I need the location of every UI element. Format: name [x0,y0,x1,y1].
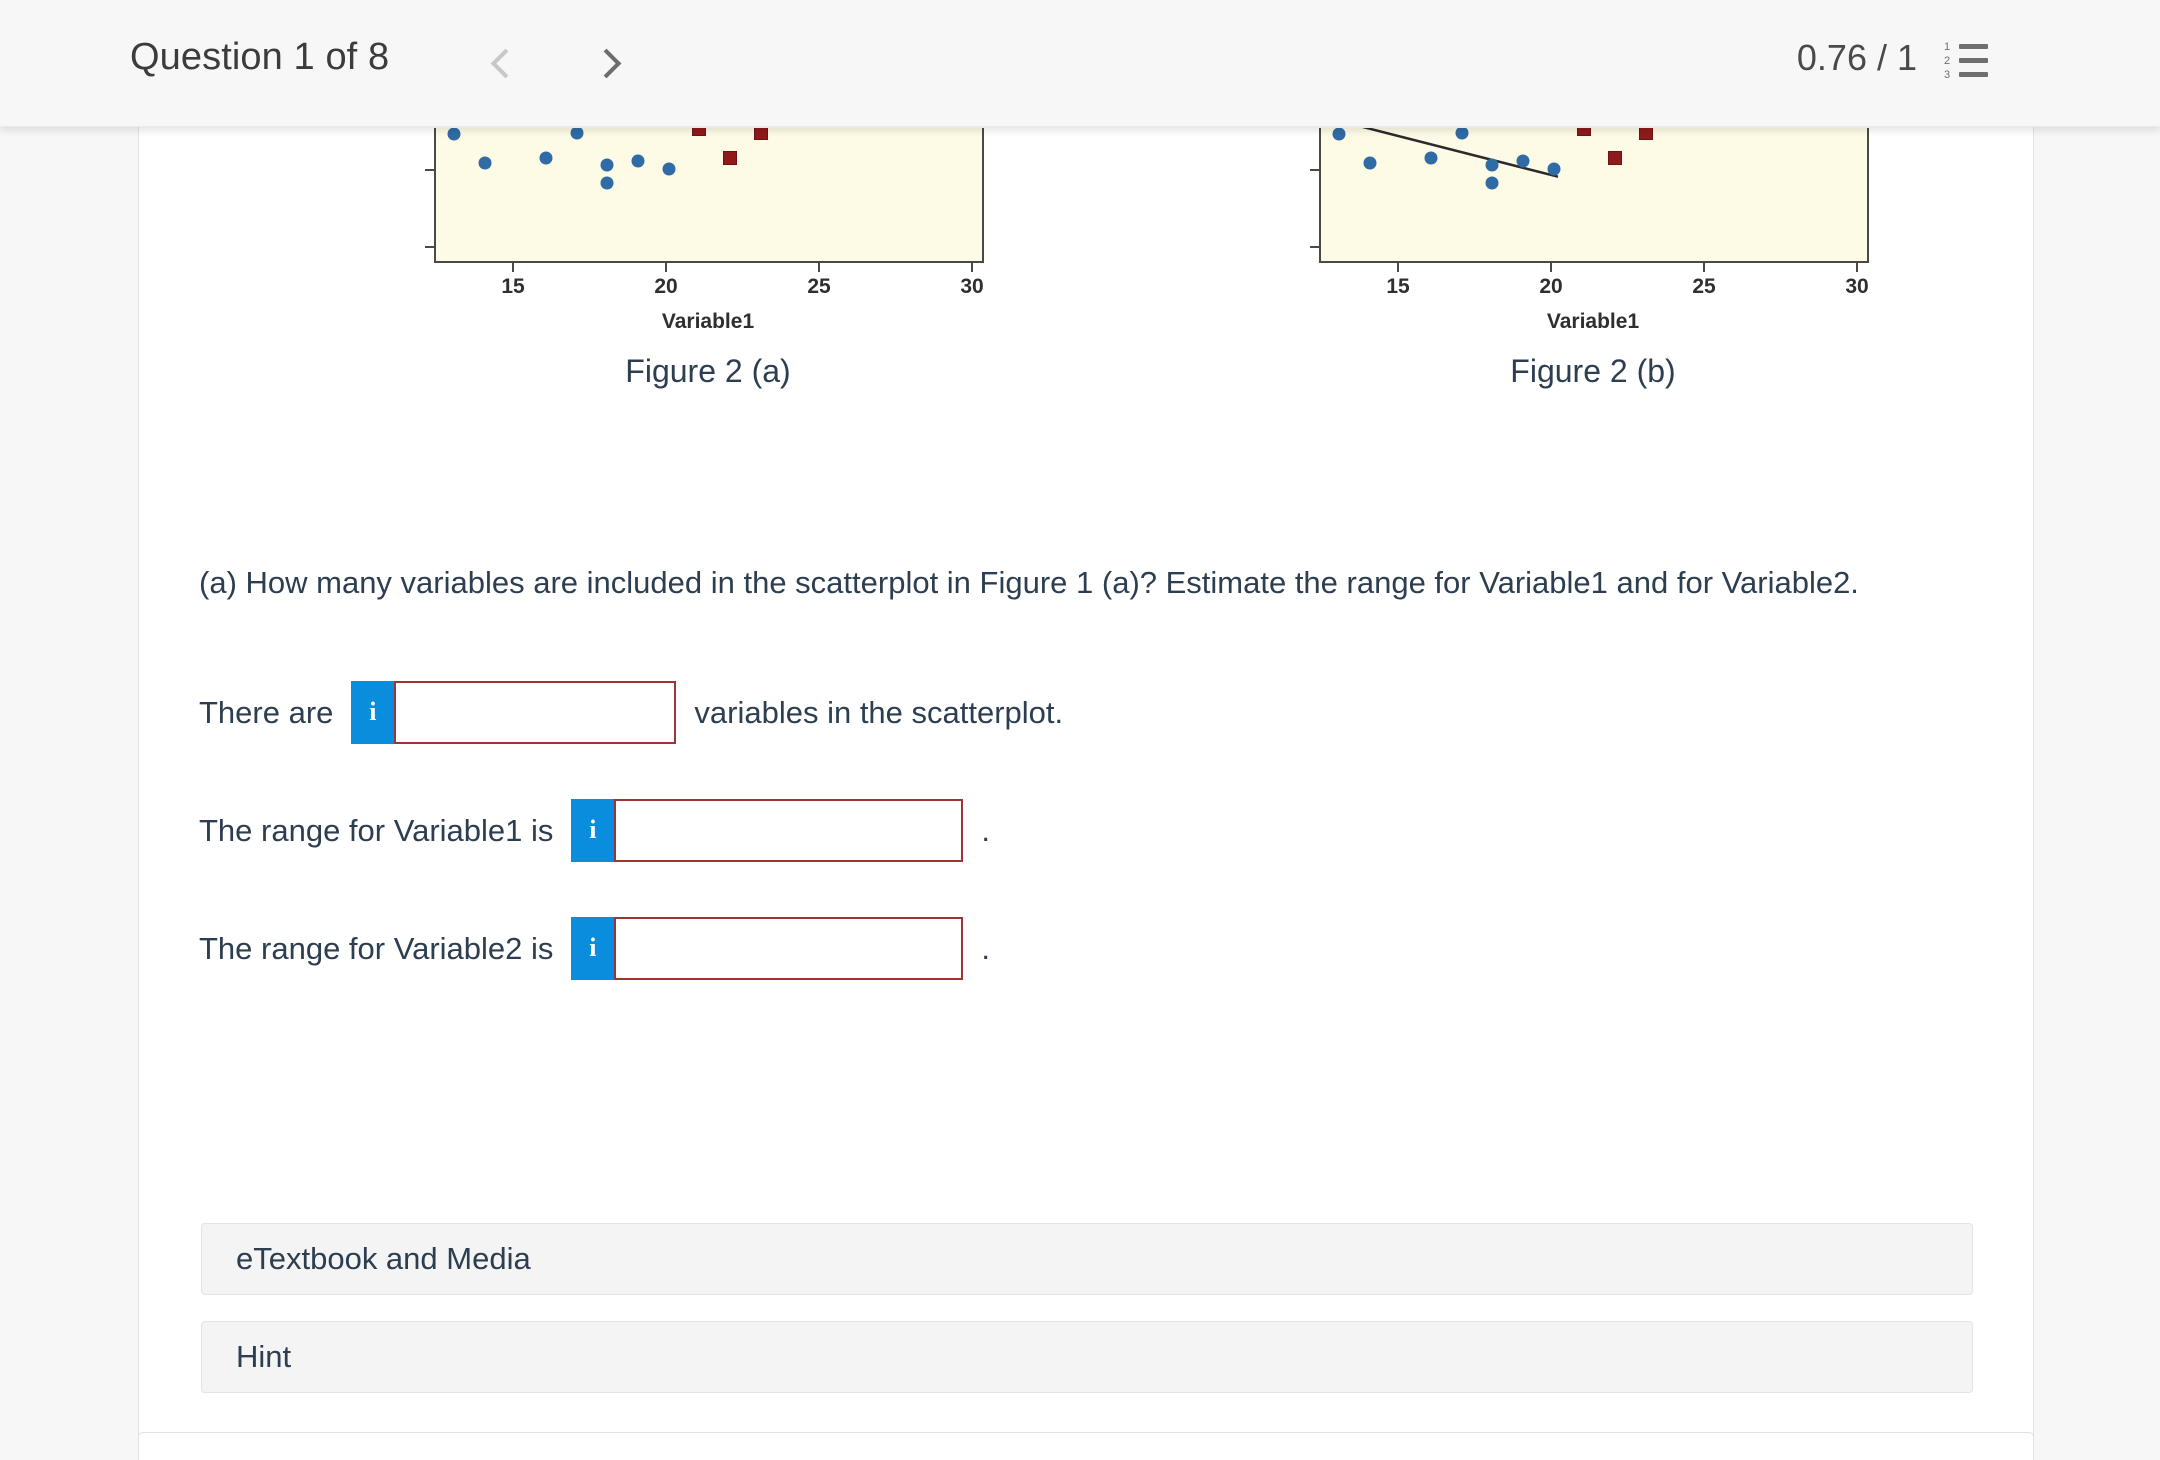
data-point-red [1639,128,1653,140]
previous-question-button[interactable] [482,38,528,88]
x-tick-mark-30 [1856,263,1858,272]
chevron-left-icon [490,48,520,78]
x-tick-mark-15 [1397,263,1399,272]
data-point-red [723,151,737,165]
answer-prefix-label: The range for Variable2 is [199,933,553,964]
figure-2b-plot: 80 60 [1224,128,1844,318]
question-body-scroll[interactable]: 80 60 [0,127,2160,1460]
numbered-list-icon[interactable]: 1 2 3 [1944,42,1988,82]
y-tick-mark-80 [425,169,434,171]
answer-prefix-label: The range for Variable1 is [199,815,553,846]
data-point-blue [1364,157,1377,170]
answer-suffix-label: variables in the scatterplot. [694,697,1063,728]
answer-row-variable-count: There are i variables in the scatterplot… [199,678,1063,746]
x-tick-label-20: 20 [1539,275,1562,299]
next-question-card [138,1432,2034,1460]
answer-suffix-label: . [981,815,990,846]
y-tick-mark-60 [1310,246,1319,248]
hint-button[interactable]: Hint [201,1321,1973,1393]
data-point-red [754,128,768,140]
data-point-blue [632,155,645,168]
list-number-1: 1 [1944,43,1950,52]
x-axis-title: Variable1 [1547,310,1639,334]
page-title: Question 1 of 8 [130,36,389,79]
range-variable2-input[interactable] [614,917,963,980]
data-point-blue [1486,177,1499,190]
figure-2a-plot-area [434,128,984,263]
figures-region: 80 60 [139,128,2035,438]
answer-prefix-label: There are [199,697,333,728]
x-tick-label-30: 30 [1845,275,1868,299]
x-tick-mark-25 [1703,263,1705,272]
x-tick-label-15: 15 [501,275,524,299]
regression-line-blue [1321,128,1867,261]
data-point-blue [663,163,676,176]
x-tick-mark-20 [1550,263,1552,272]
range-variable1-input[interactable] [614,799,963,862]
x-tick-mark-15 [512,263,514,272]
data-point-red [692,128,706,136]
variable-count-input[interactable] [394,681,676,744]
hint-label: Hint [236,1339,291,1375]
x-tick-label-15: 15 [1386,275,1409,299]
answer-suffix-label: . [981,933,990,964]
etextbook-and-media-label: eTextbook and Media [236,1241,531,1277]
info-icon[interactable]: i [571,917,614,980]
list-number-2: 2 [1944,57,1950,66]
data-point-blue [448,128,461,141]
regression-line-red-dashed [1321,128,1867,261]
data-point-blue [1517,155,1530,168]
figure-2a-caption: Figure 2 (a) [625,353,790,390]
x-tick-label-25: 25 [807,275,830,299]
score-display: 0.76 / 1 [1797,37,1917,79]
x-tick-label-25: 25 [1692,275,1715,299]
info-icon[interactable]: i [351,681,394,744]
answer-field-group: i [571,917,963,980]
figure-2b-caption: Figure 2 (b) [1510,353,1675,390]
data-point-blue [1456,128,1469,140]
x-tick-mark-25 [818,263,820,272]
data-point-blue [540,152,553,165]
x-tick-label-20: 20 [654,275,677,299]
list-bar-3 [1959,72,1988,77]
answer-row-range-variable1: The range for Variable1 is i . [199,796,990,864]
x-axis-title: Variable1 [662,310,754,334]
figure-2a-plot: 80 60 [339,128,959,318]
answer-field-group: i [351,681,676,744]
answer-field-group: i [571,799,963,862]
x-tick-mark-20 [665,263,667,272]
figure-2b-plot-area [1319,128,1869,263]
data-point-red [1608,151,1622,165]
list-number-3: 3 [1944,71,1950,80]
x-tick-label-30: 30 [960,275,983,299]
question-card: 80 60 [138,127,2034,1460]
question-prompt: (a) How many variables are included in t… [199,561,1979,605]
data-point-red [1577,128,1591,136]
chevron-right-icon [591,48,621,78]
y-tick-mark-80 [1310,169,1319,171]
data-point-blue [1548,163,1561,176]
figure-2b: 80 60 [1224,128,1964,438]
x-tick-mark-30 [971,263,973,272]
data-point-blue [571,128,584,140]
data-point-blue [601,177,614,190]
next-question-button[interactable] [583,38,629,88]
list-bar-2 [1959,58,1988,63]
data-point-blue [1425,152,1438,165]
question-header: Question 1 of 8 0.76 / 1 1 2 3 [0,0,2160,127]
answer-row-range-variable2: The range for Variable2 is i . [199,914,990,982]
etextbook-and-media-button[interactable]: eTextbook and Media [201,1223,1973,1295]
info-icon[interactable]: i [571,799,614,862]
data-point-blue [601,159,614,172]
data-point-blue [1486,159,1499,172]
data-point-blue [1333,128,1346,141]
y-tick-mark-60 [425,246,434,248]
list-bar-1 [1959,44,1988,49]
data-point-blue [479,157,492,170]
figure-2a: 80 60 [339,128,1079,438]
